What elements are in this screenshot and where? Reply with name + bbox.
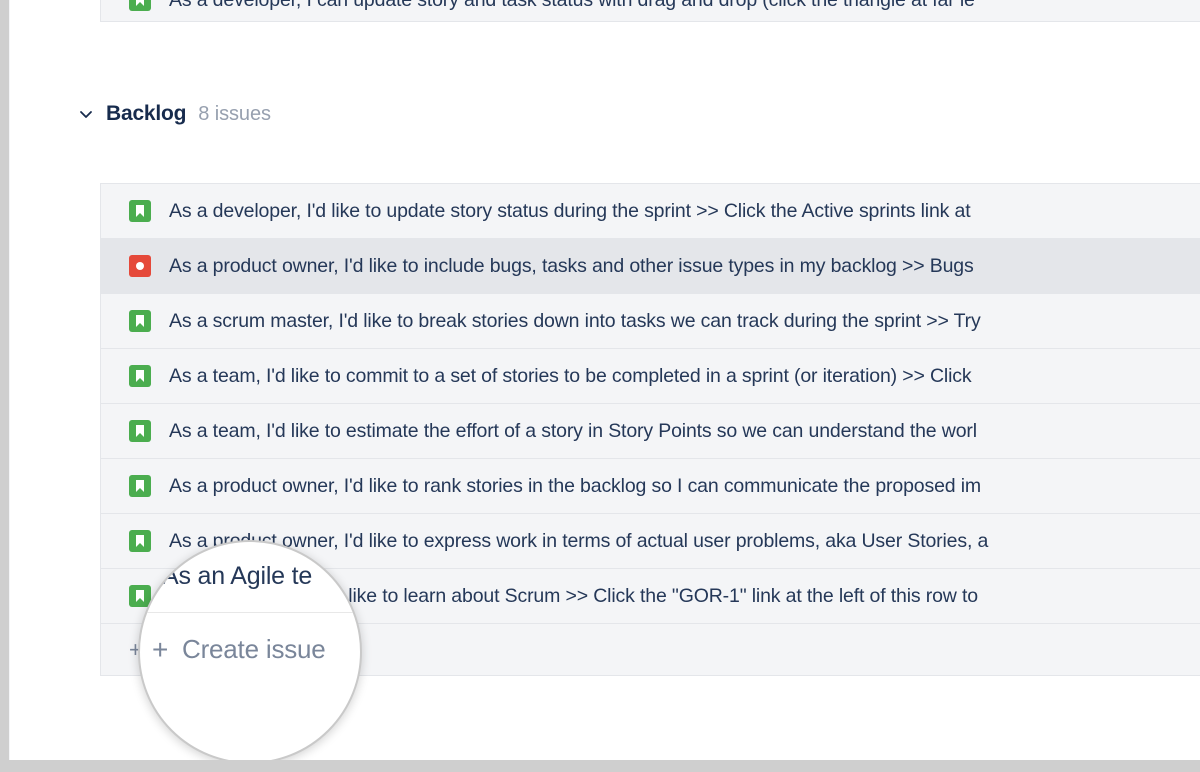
magnified-row-divider xyxy=(140,612,362,613)
issue-summary: As a product owner, I'd like to include … xyxy=(169,255,974,278)
bug-icon xyxy=(129,255,151,277)
magnifier-lens: As an Agile te + Create issue xyxy=(138,540,362,760)
story-icon xyxy=(129,530,151,552)
issue-count-label: 8 issues xyxy=(198,103,271,126)
magnified-create-issue-label: Create issue xyxy=(182,634,326,665)
issue-row[interactable]: As a developer, I'd like to update story… xyxy=(101,184,1200,239)
issue-summary: As a team, I'd like to estimate the effo… xyxy=(169,420,977,443)
story-icon xyxy=(129,475,151,497)
backlog-section-header[interactable]: Backlog 8 issues xyxy=(78,102,271,126)
previous-section-issue-row[interactable]: As a developer, I can update story and t… xyxy=(100,0,1200,22)
issue-row[interactable]: As a scrum master, I'd like to break sto… xyxy=(101,294,1200,349)
issue-row[interactable]: As a team, I'd like to commit to a set o… xyxy=(101,349,1200,404)
story-icon xyxy=(129,200,151,222)
story-icon xyxy=(129,420,151,442)
issue-summary: As a developer, I can update story and t… xyxy=(169,0,975,12)
window-frame-left xyxy=(0,0,9,772)
story-icon xyxy=(129,0,151,11)
issue-summary: As a developer, I'd like to update story… xyxy=(169,200,971,223)
backlog-canvas: As a developer, I can update story and t… xyxy=(10,0,1200,760)
chevron-down-icon[interactable] xyxy=(78,106,94,122)
issue-summary: As a product owner, I'd like to rank sto… xyxy=(169,475,981,498)
issue-summary: As a team, I'd like to commit to a set o… xyxy=(169,365,972,388)
issue-row[interactable]: As a product owner, I'd like to include … xyxy=(101,239,1200,294)
magnified-plus-icon: + xyxy=(152,636,168,664)
page-title: Backlog xyxy=(106,102,186,126)
issue-row[interactable]: As a team, I'd like to estimate the effo… xyxy=(101,404,1200,459)
story-icon xyxy=(129,365,151,387)
issue-row[interactable]: As a product owner, I'd like to rank sto… xyxy=(101,459,1200,514)
window-frame-bottom xyxy=(0,760,1200,772)
story-icon xyxy=(129,310,151,332)
magnified-issue-summary: As an Agile te xyxy=(162,562,312,591)
issue-summary: As a scrum master, I'd like to break sto… xyxy=(169,310,981,333)
screenshot-root: As a developer, I can update story and t… xyxy=(0,0,1200,772)
